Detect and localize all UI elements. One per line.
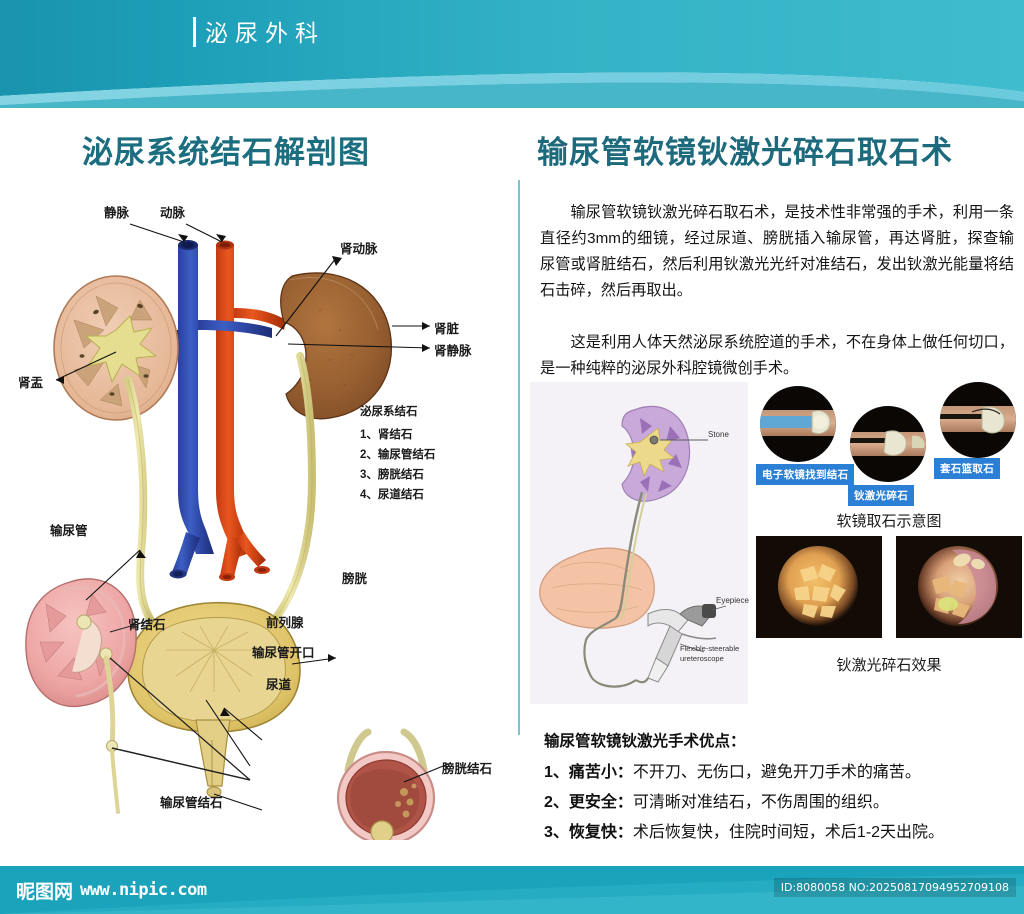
- label-artery: 动脉: [160, 202, 185, 221]
- stone-type-list: 泌尿系结石 1、肾结石 2、输尿管结石 3、膀胱结石 4、尿道结石: [360, 402, 435, 505]
- endoscopic-sequence-area: 电子软镜找到结石 钬激光碎石 套石篮取石 软镜取石示意图: [756, 382, 1022, 704]
- paragraph-2-text: 这是利用人体天然泌尿系统腔道的手术，不在身体上做任何切口，是一种纯粹的泌尿外科腔…: [540, 334, 1014, 377]
- advantage-item-3: 3、恢复快：术后恢复快，住院时间短，术后1-2天出院。: [544, 819, 944, 847]
- lithotripsy-result-photos: [756, 536, 1022, 646]
- label-vein: 静脉: [104, 202, 129, 221]
- label-ureter: 输尿管: [50, 520, 88, 539]
- label-renal-vein: 肾静脉: [434, 340, 472, 359]
- label-bladder: 膀胱: [342, 568, 367, 587]
- stone-list-heading: 泌尿系结石: [360, 402, 435, 422]
- label-bladder-stone: 膀胱结石: [442, 758, 492, 777]
- caption-results: 钬激光碎石效果: [756, 654, 1022, 675]
- page-footer: 昵图网 www.nipic.com ID:8080058 NO:20250817…: [0, 866, 1024, 914]
- endoscope-tag-laser-lithotripsy: 钬激光碎石: [848, 485, 914, 506]
- site-logo-url[interactable]: www.nipic.com: [80, 880, 207, 900]
- header-department-title: 泌尿外科: [205, 18, 325, 48]
- label-kidney: 肾脏: [434, 318, 459, 337]
- advantage-item-1: 1、痛苦小：不开刀、无伤口，避免开刀手术的痛苦。: [544, 759, 921, 787]
- advantages-heading: 输尿管软镜钬激光手术优点：: [544, 729, 746, 751]
- diagram-label-stone: Stone: [708, 430, 729, 439]
- page-header: 泌尿外科: [0, 0, 1024, 108]
- advantage-key-2: 更安全：: [569, 794, 633, 811]
- label-prostate: 前列腺: [266, 612, 304, 631]
- endoscope-tag-basket-retrieval: 套石篮取石: [934, 458, 1000, 479]
- diagram-label-eyepiece: Eyepiece: [716, 596, 749, 605]
- left-column-title: 泌尿系统结石解剖图: [82, 127, 370, 172]
- diagram-label-ureteroscope-line2: ureteroscope: [680, 654, 724, 663]
- image-id-badge: ID:8080058 NO:20250817094952709108: [774, 878, 1016, 897]
- label-ureteral-orifice: 输尿管开口: [252, 642, 315, 661]
- label-renal-pelvis: 肾盂: [18, 372, 43, 391]
- header-accent-bar: [193, 17, 196, 47]
- anatomy-diagram-panel: 静脉 动脉 肾动脉 肾脏 肾静脉 肾盂 输尿管 膀胱 前列腺 输尿管开口 尿道 …: [0, 180, 516, 840]
- advantage-key-1: 痛苦小：: [569, 764, 633, 781]
- caption-schematic: 软镜取石示意图: [756, 510, 1022, 531]
- header-wave-graphic: [0, 0, 1024, 108]
- advantage-number-3: 3、: [544, 824, 569, 841]
- advantage-number-1: 1、: [544, 764, 569, 781]
- stone-list-item: 1、肾结石: [360, 425, 435, 445]
- endoscope-tag-find-stone: 电子软镜找到结石: [756, 464, 854, 485]
- column-divider: [518, 180, 520, 735]
- stone-list-item: 3、膀胱结石: [360, 465, 435, 485]
- diagram-label-ureteroscope-line1: Flexible-steerable: [680, 644, 739, 653]
- advantage-number-2: 2、: [544, 794, 569, 811]
- label-urethra: 尿道: [266, 674, 291, 693]
- advantage-key-3: 恢复快：: [569, 824, 633, 841]
- advantage-desc-2: 可清晰对准结石，不伤周围的组织。: [633, 794, 889, 811]
- paragraph-1-text: 输尿管软镜钬激光碎石取石术，是技术性非常强的手术，利用一条直径约3mm的细镜，经…: [540, 204, 1014, 299]
- stone-list-item: 4、尿道结石: [360, 485, 435, 505]
- advantage-item-2: 2、更安全：可清晰对准结石，不伤周围的组织。: [544, 789, 889, 817]
- advantage-desc-1: 不开刀、无伤口，避免开刀手术的痛苦。: [633, 764, 921, 781]
- site-logo-cn[interactable]: 昵图网: [16, 877, 73, 904]
- right-column-title: 输尿管软镜钬激光碎石取石术: [537, 127, 953, 172]
- stone-list-item: 2、输尿管结石: [360, 445, 435, 465]
- label-kidney-stone: 肾结石: [128, 614, 166, 633]
- advantage-desc-3: 术后恢复快，住院时间短，术后1-2天出院。: [633, 824, 944, 841]
- label-ureteral-stone: 输尿管结石: [160, 792, 223, 811]
- poster-root: 泌尿外科 泌尿系统结石解剖图 输尿管软镜钬激光碎石取石术: [0, 0, 1024, 914]
- urinary-system-anatomy-illustration: [0, 180, 516, 840]
- ureteroscopy-diagram: Stone Eyepiece Flexible-steerable ureter…: [530, 382, 748, 704]
- label-renal-artery: 肾动脉: [340, 238, 378, 257]
- procedure-paragraph-1: 输尿管软镜钬激光碎石取石术，是技术性非常强的手术，利用一条直径约3mm的细镜，经…: [540, 200, 1014, 304]
- procedure-paragraph-2: 这是利用人体天然泌尿系统腔道的手术，不在身体上做任何切口，是一种纯粹的泌尿外科腔…: [540, 330, 1014, 382]
- procedure-panel: 输尿管软镜钬激光碎石取石术，是技术性非常强的手术，利用一条直径约3mm的细镜，经…: [530, 186, 1024, 846]
